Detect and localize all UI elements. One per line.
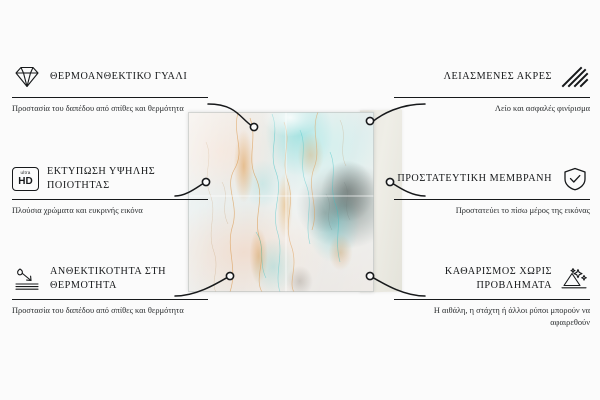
ultra-hd-icon: ultra HD <box>12 167 39 191</box>
feature-description: Προστασία του δαπέδου από σπίθες και θερ… <box>12 305 208 317</box>
feature-header: ultra HD ΕΚΤΥΠΩΣΗ ΥΨΗΛΗΣ ΠΟΙΟΤΗΤΑΣ <box>12 164 208 194</box>
sparkle-clean-icon <box>560 266 590 292</box>
feature-header: ΑΝΘΕΚΤΙΚΟΤΗΤΑ ΣΤΗ ΘΕΡΜΟΤΗΤΑ <box>12 264 208 294</box>
feature-divider <box>12 199 208 200</box>
product-image-stage <box>188 112 398 292</box>
feature-header: ΠΡΟΣΤΑΤΕΥΤΙΚΗ ΜΕΜΒΡΑΝΗ <box>394 164 590 194</box>
feature-title: ΑΝΘΕΚΤΙΚΟΤΗΤΑ ΣΤΗ ΘΕΡΜΟΤΗΤΑ <box>50 265 208 292</box>
feature-protective-membrane: ΠΡΟΣΤΑΤΕΥΤΙΚΗ ΜΕΜΒΡΑΝΗ Προστατεύει το πί… <box>394 164 590 217</box>
shield-check-icon <box>560 166 590 192</box>
polished-edges-icon <box>560 64 590 90</box>
feature-high-quality-print: ultra HD ΕΚΤΥΠΩΣΗ ΥΨΗΛΗΣ ΠΟΙΟΤΗΤΑΣ Πλούσ… <box>12 164 208 217</box>
feature-title: ΕΚΤΥΠΩΣΗ ΥΨΗΛΗΣ ΠΟΙΟΤΗΤΑΣ <box>47 165 208 192</box>
glass-panel-border <box>188 112 374 292</box>
feature-description: Προστασία του δαπέδου από σπίθες και θερ… <box>12 103 208 115</box>
feature-title: ΘΕΡΜΟΑΝΘΕΚΤΙΚΟ ΓΥΑΛΙ <box>50 70 187 84</box>
feature-title: ΠΡΟΣΤΑΤΕΥΤΙΚΗ ΜΕΜΒΡΑΝΗ <box>397 172 552 186</box>
feature-heat-resistant-glass: ΘΕΡΜΟΑΝΘΕΚΤΙΚΟ ΓΥΑΛΙ Προστασία του δαπέδ… <box>12 62 208 115</box>
feature-header: ΛΕΙΑΣΜΕΝΕΣ ΑΚΡΕΣ <box>394 62 590 92</box>
feature-header: ΘΕΡΜΟΑΝΘΕΚΤΙΚΟ ΓΥΑΛΙ <box>12 62 208 92</box>
feature-divider <box>394 299 590 300</box>
glass-panel-artwork <box>188 112 374 292</box>
feature-description: Η αιθάλη, η στάχτη ή άλλοι ρύποι μπορούν… <box>394 305 590 329</box>
infographic-page: ΘΕΡΜΟΑΝΘΕΚΤΙΚΟ ΓΥΑΛΙ Προστασία του δαπέδ… <box>0 0 600 400</box>
feature-description: Προστατεύει το πίσω μέρος της εικόνας <box>394 205 590 217</box>
feature-header: ΚΑΘΑΡΙΣΜΟΣ ΧΩΡΙΣ ΠΡΟΒΛΗΜΑΤΑ <box>394 264 590 294</box>
feature-description: Πλούσια χρώματα και ευκρινής εικόνα <box>12 205 208 217</box>
ultra-hd-main-label: HD <box>18 177 32 187</box>
feature-description: Λείο και ασφαλές φινίρισμα <box>394 103 590 115</box>
feature-divider <box>394 199 590 200</box>
feature-easy-cleaning: ΚΑΘΑΡΙΣΜΟΣ ΧΩΡΙΣ ΠΡΟΒΛΗΜΑΤΑ Η αιθάλη, η … <box>394 264 590 329</box>
feature-heat-durability: ΑΝΘΕΚΤΙΚΟΤΗΤΑ ΣΤΗ ΘΕΡΜΟΤΗΤΑ Προστασία το… <box>12 264 208 317</box>
feature-title: ΚΑΘΑΡΙΣΜΟΣ ΧΩΡΙΣ ΠΡΟΒΛΗΜΑΤΑ <box>394 265 552 292</box>
feature-title: ΛΕΙΑΣΜΕΝΕΣ ΑΚΡΕΣ <box>444 70 552 84</box>
feature-divider <box>12 97 208 98</box>
heat-deflect-icon <box>12 266 42 292</box>
diamond-icon <box>12 64 42 90</box>
feature-divider <box>394 97 590 98</box>
feature-polished-edges: ΛΕΙΑΣΜΕΝΕΣ ΑΚΡΕΣ Λείο και ασφαλές φινίρι… <box>394 62 590 115</box>
feature-divider <box>12 299 208 300</box>
